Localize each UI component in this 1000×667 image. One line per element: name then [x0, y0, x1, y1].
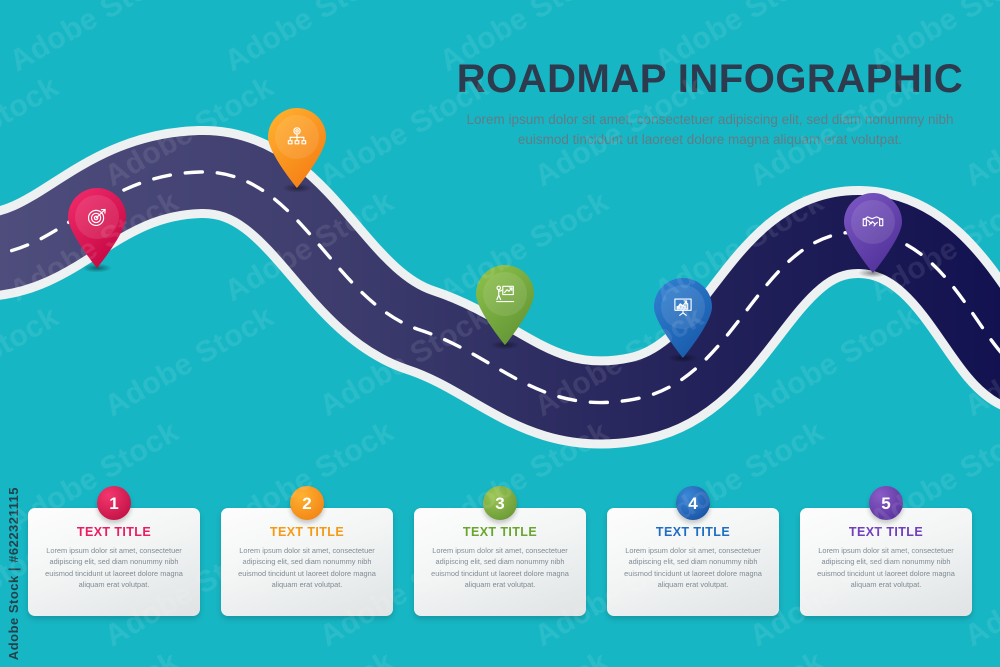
step-card-text: Lorem ipsum dolor sit amet, consectetuer…: [232, 545, 382, 591]
step-card-2[interactable]: 2TEXT TITLELorem ipsum dolor sit amet, c…: [221, 486, 393, 626]
step-card-body-2: TEXT TITLELorem ipsum dolor sit amet, co…: [221, 508, 393, 616]
step-card-title: TEXT TITLE: [811, 525, 961, 539]
step-badge-4: 4: [676, 486, 710, 520]
step-number: 5: [881, 495, 890, 512]
step-card-text: Lorem ipsum dolor sit amet, consectetuer…: [425, 545, 575, 591]
stock-watermark-side: Adobe Stock | #622321115: [2, 430, 24, 660]
step-card-title: TEXT TITLE: [39, 525, 189, 539]
stock-watermark-text: Adobe Stock | #622321115: [6, 487, 21, 660]
step-card-text: Lorem ipsum dolor sit amet, consectetuer…: [811, 545, 961, 591]
step-number: 3: [495, 495, 504, 512]
header: ROADMAP INFOGRAPHIC Lorem ipsum dolor si…: [430, 58, 990, 151]
step-card-5[interactable]: 5TEXT TITLELorem ipsum dolor sit amet, c…: [800, 486, 972, 626]
step-badge-2: 2: [290, 486, 324, 520]
map-pin-step-2[interactable]: [266, 108, 328, 192]
step-card-body-3: TEXT TITLELorem ipsum dolor sit amet, co…: [414, 508, 586, 616]
step-badge-1: 1: [97, 486, 131, 520]
map-pin-step-5[interactable]: [842, 193, 904, 277]
map-pin-step-1[interactable]: [66, 188, 128, 272]
map-pin-step-4[interactable]: [652, 278, 714, 362]
step-badge-5: 5: [869, 486, 903, 520]
page-subtitle: Lorem ipsum dolor sit amet, consectetuer…: [430, 110, 990, 151]
step-card-3[interactable]: 3TEXT TITLELorem ipsum dolor sit amet, c…: [414, 486, 586, 626]
map-pin-step-3[interactable]: [474, 265, 536, 349]
step-card-title: TEXT TITLE: [232, 525, 382, 539]
step-card-text: Lorem ipsum dolor sit amet, consectetuer…: [39, 545, 189, 591]
step-number: 2: [302, 495, 311, 512]
step-badge-3: 3: [483, 486, 517, 520]
step-card-1[interactable]: 1TEXT TITLELorem ipsum dolor sit amet, c…: [28, 486, 200, 626]
step-card-body-4: TEXT TITLELorem ipsum dolor sit amet, co…: [607, 508, 779, 616]
step-number: 1: [109, 495, 118, 512]
steps-card-row: 1TEXT TITLELorem ipsum dolor sit amet, c…: [28, 486, 972, 626]
step-card-4[interactable]: 4TEXT TITLELorem ipsum dolor sit amet, c…: [607, 486, 779, 626]
step-card-body-5: TEXT TITLELorem ipsum dolor sit amet, co…: [800, 508, 972, 616]
infographic-canvas: ROADMAP INFOGRAPHIC Lorem ipsum dolor si…: [0, 0, 1000, 667]
step-card-body-1: TEXT TITLELorem ipsum dolor sit amet, co…: [28, 508, 200, 616]
step-card-title: TEXT TITLE: [425, 525, 575, 539]
page-title: ROADMAP INFOGRAPHIC: [430, 58, 990, 100]
step-card-text: Lorem ipsum dolor sit amet, consectetuer…: [618, 545, 768, 591]
step-number: 4: [688, 495, 697, 512]
step-card-title: TEXT TITLE: [618, 525, 768, 539]
